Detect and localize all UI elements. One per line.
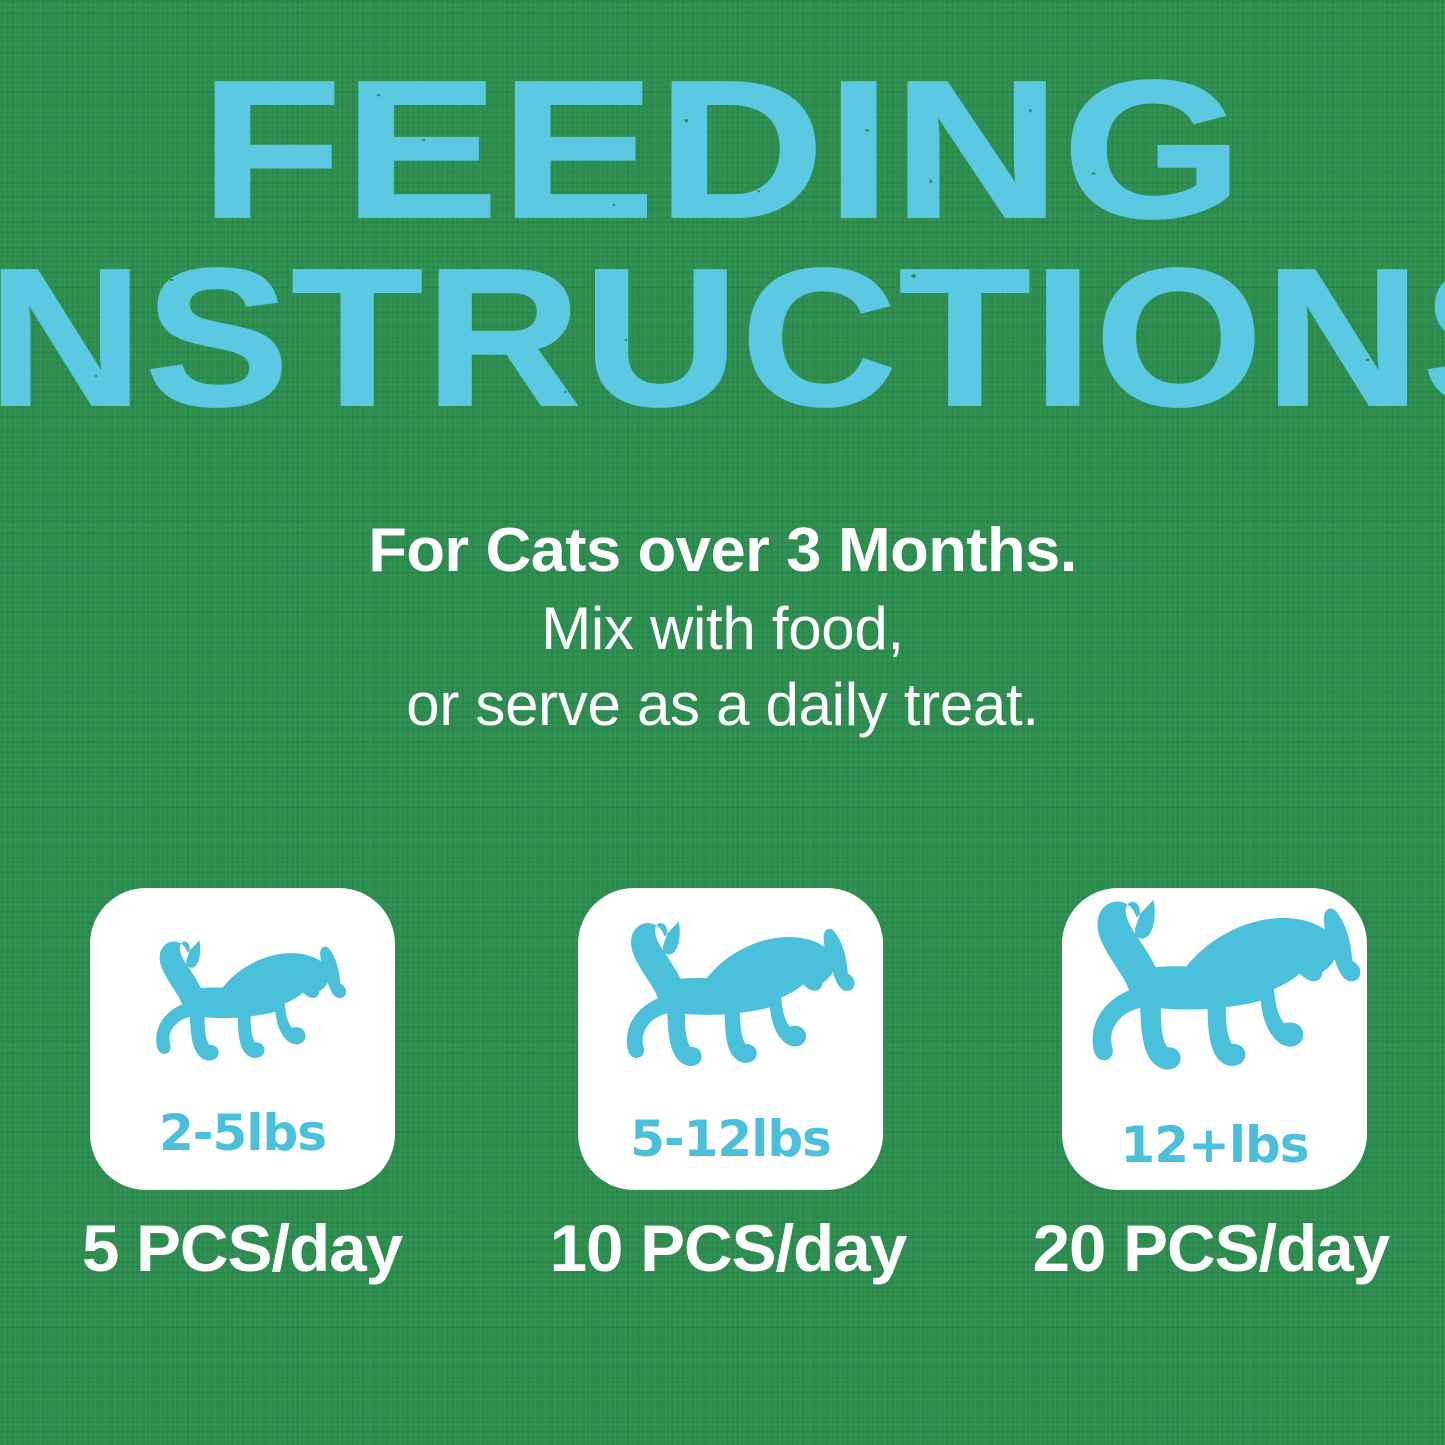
poster-title: FEEDING INSTRUCTIONS [0, 58, 1445, 430]
dosage-label-medium: 10 PCS/day [550, 1215, 897, 1281]
walking-cat-icon [148, 934, 338, 1101]
body-line-daily-treat: or serve as a daily treat. [0, 675, 1445, 735]
weight-cards-row: 2-5lbs 5-12lbs 12+lbs [90, 888, 1370, 1190]
weight-range-label: 5-12lbs [578, 1110, 883, 1168]
walking-cat-icon [617, 914, 845, 1115]
body-line-age-requirement: For Cats over 3 Months. [0, 520, 1445, 582]
cat-icon-holder-small [90, 930, 395, 1106]
title-line-feeding: FEEDING [200, 58, 1245, 242]
weight-range-label: 2-5lbs [90, 1104, 395, 1162]
walking-cat-icon [1081, 891, 1349, 1127]
weight-range-label: 12+lbs [1062, 1116, 1367, 1174]
cat-icon-holder-large [1062, 890, 1367, 1128]
instructions-body-copy: For Cats over 3 Months. Mix with food, o… [0, 520, 1445, 735]
title-line-1-wrapper: FEEDING [280, 58, 1165, 242]
cat-icon-holder-medium [578, 910, 883, 1118]
title-line-2-wrapper: INSTRUCTIONS [0, 242, 1445, 430]
title-line-instructions: INSTRUCTIONS [0, 246, 1445, 430]
feeding-instructions-poster: FEEDING INSTRUCTIONS For Cats over 3 Mon… [0, 0, 1445, 1445]
weight-card-medium: 5-12lbs [578, 888, 883, 1190]
body-line-mix-with-food: Mix with food, [0, 599, 1445, 659]
dosage-labels-row: 5 PCS/day 10 PCS/day 20 PCS/day [0, 1215, 1445, 1315]
dosage-label-small: 5 PCS/day [69, 1215, 416, 1281]
weight-card-small: 2-5lbs [90, 888, 395, 1190]
weight-card-large: 12+lbs [1062, 888, 1367, 1190]
dosage-label-large: 20 PCS/day [1033, 1215, 1380, 1281]
